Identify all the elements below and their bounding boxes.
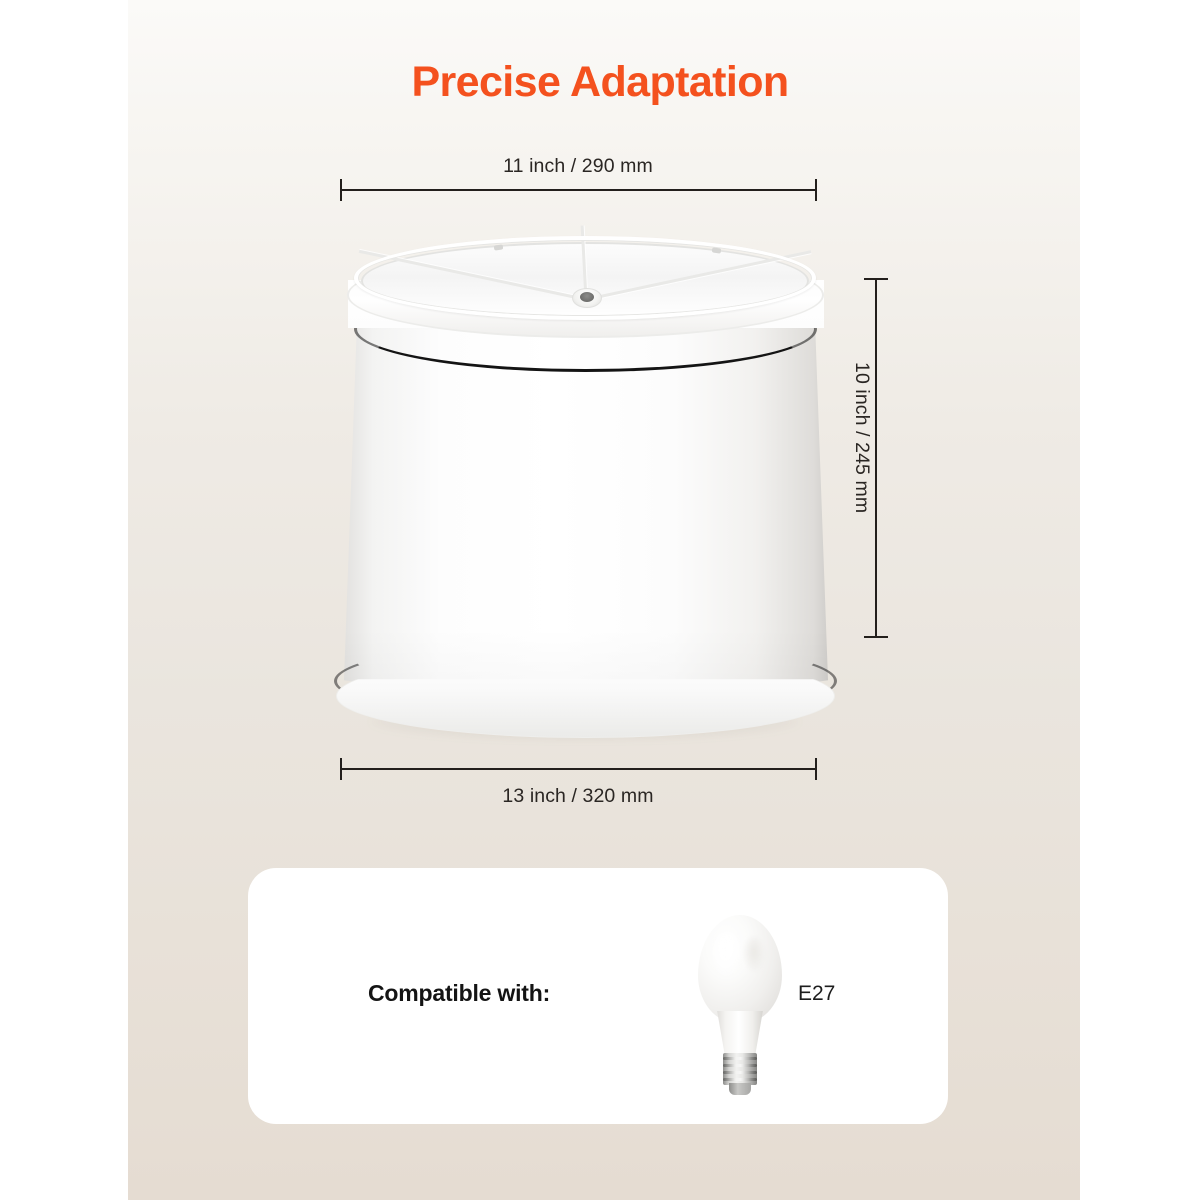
bulb-thread [723, 1057, 757, 1060]
bulb-thread [723, 1064, 757, 1067]
height-label: 10 inch / 245 mm [850, 362, 873, 513]
lampshade-top-rim-ring [354, 236, 816, 320]
bottom-diameter-label: 13 inch / 320 mm [0, 785, 1156, 808]
height-dimension-cap-top [864, 278, 888, 280]
compatible-with-label: Compatible with: [368, 980, 550, 1007]
bulb-thread [723, 1078, 757, 1081]
top-diameter-label: 11 inch / 290 mm [0, 155, 1156, 178]
page-title: Precise Adaptation [0, 58, 1200, 107]
bulb-highlight [712, 931, 742, 977]
infographic-canvas: Precise Adaptation 11 inch / 290 mm 10 i… [0, 0, 1200, 1200]
bottom-dimension-cap-left [340, 758, 342, 780]
socket-type-label: E27 [798, 982, 835, 1006]
height-dimension-line [875, 279, 877, 637]
height-dimension-cap-bottom [864, 636, 888, 638]
top-dimension-cap-right [815, 179, 817, 201]
bulb-contact-tip [729, 1083, 751, 1095]
bottom-dimension-line [341, 768, 817, 770]
light-bulb-icon [694, 915, 786, 1097]
bulb-thread [723, 1071, 757, 1074]
lampshade-image [330, 222, 840, 732]
top-dimension-line [341, 189, 817, 191]
bulb-globe [698, 915, 782, 1023]
top-dimension-cap-left [340, 179, 342, 201]
bulb-neck [714, 1011, 766, 1059]
bulb-highlight-secondary [744, 937, 764, 971]
compatibility-card [248, 868, 948, 1124]
bottom-dimension-cap-right [815, 758, 817, 780]
